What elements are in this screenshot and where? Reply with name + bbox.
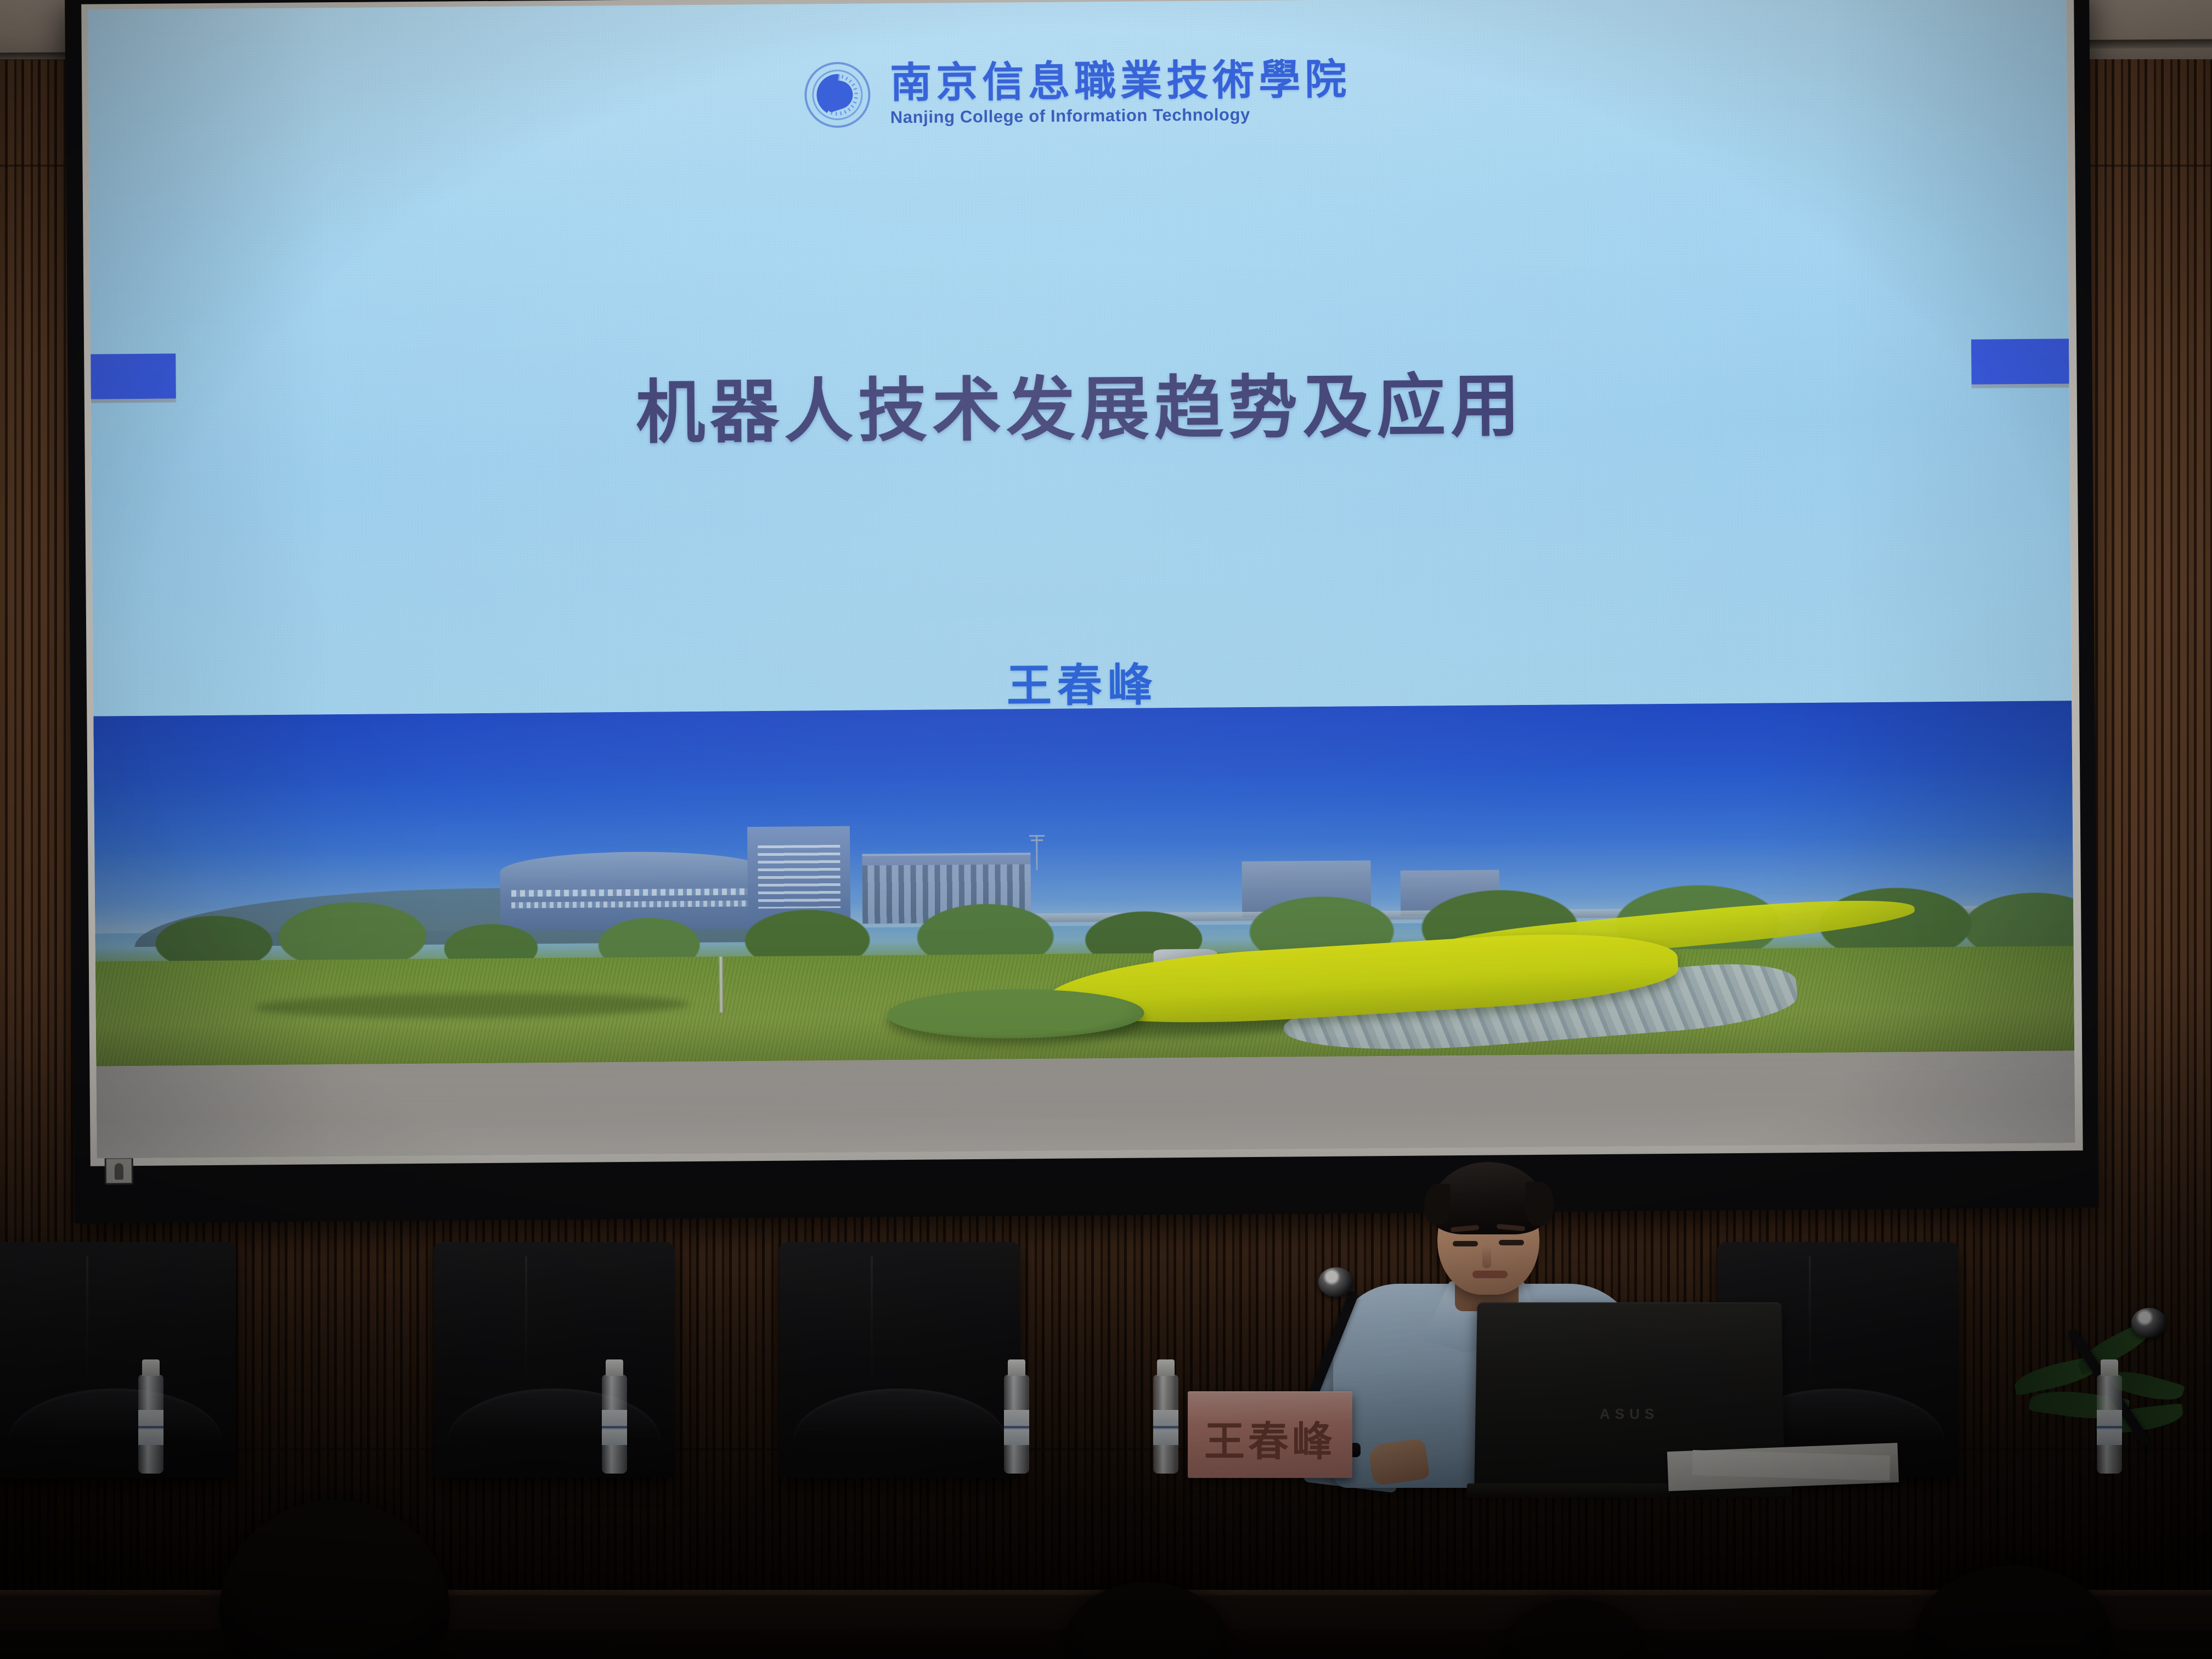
microphone-head — [2131, 1308, 2166, 1338]
bottle-cap — [2101, 1359, 2118, 1376]
screen-mount-bracket — [105, 1157, 133, 1184]
audience-head — [1915, 1566, 2112, 1659]
head-table-area: ASUS 王春峰 — [0, 1223, 2212, 1659]
conference-chair — [0, 1242, 236, 1478]
bottle-label — [1004, 1410, 1029, 1445]
water-bottle — [1152, 1359, 1180, 1474]
conference-room: 南京信息職業技術學院 Nanjing College of Informatio… — [0, 0, 2212, 1659]
microphone-head — [1318, 1267, 1353, 1297]
college-name-english: Nanjing College of Information Technolog… — [890, 104, 1351, 128]
water-bottle — [2096, 1359, 2123, 1474]
campus-photo — [93, 701, 2074, 1066]
chair-fold — [871, 1256, 873, 1389]
laptop-brand-logo: ASUS — [1600, 1406, 1660, 1423]
photo-color-grade — [93, 701, 2074, 1066]
presenter-eye — [1499, 1240, 1524, 1245]
presentation-slide: 南京信息職業技術學院 Nanjing College of Informatio… — [88, 0, 2075, 1159]
name-placard-text: 王春峰 — [1204, 1409, 1336, 1468]
presenter-nose — [1482, 1245, 1491, 1268]
water-bottle — [137, 1359, 165, 1474]
conference-chair — [779, 1242, 1020, 1478]
bottle-label — [602, 1410, 627, 1445]
water-bottle — [1003, 1359, 1030, 1474]
bottle-label — [138, 1410, 163, 1445]
presenter-eye — [1453, 1241, 1478, 1246]
conference-chair — [433, 1242, 675, 1478]
bottle-label — [1153, 1410, 1178, 1445]
bottle-cap — [606, 1359, 623, 1376]
slide-letterbox-band — [96, 1051, 2075, 1159]
brand-text-block: 南京信息職業技術學院 Nanjing College of Informatio… — [890, 57, 1351, 127]
chair-fold — [525, 1256, 527, 1389]
brand-header: 南京信息職業技術學院 Nanjing College of Informatio… — [804, 57, 1351, 128]
presenter-mouth — [1472, 1271, 1508, 1278]
bottle-cap — [142, 1359, 160, 1376]
audience-head — [219, 1500, 450, 1659]
bottle-cap — [1008, 1359, 1025, 1376]
bottle-cap — [1157, 1359, 1175, 1376]
name-placard: 王春峰 — [1188, 1391, 1352, 1478]
bottle-label — [2097, 1410, 2122, 1445]
college-name-chinese: 南京信息職業技術學院 — [890, 57, 1351, 105]
presenter-hand — [1368, 1438, 1430, 1486]
chair-fold — [1809, 1256, 1811, 1389]
college-emblem-icon — [804, 61, 871, 128]
slide-title: 机器人技术发展趋势及应用 — [91, 346, 2069, 461]
chair-fold — [86, 1256, 88, 1389]
water-bottle — [601, 1359, 628, 1474]
projection-screen: 南京信息職業技術學院 Nanjing College of Informatio… — [65, 0, 2098, 1223]
screen-surface: 南京信息職業技術學院 Nanjing College of Informatio… — [88, 0, 2075, 1159]
